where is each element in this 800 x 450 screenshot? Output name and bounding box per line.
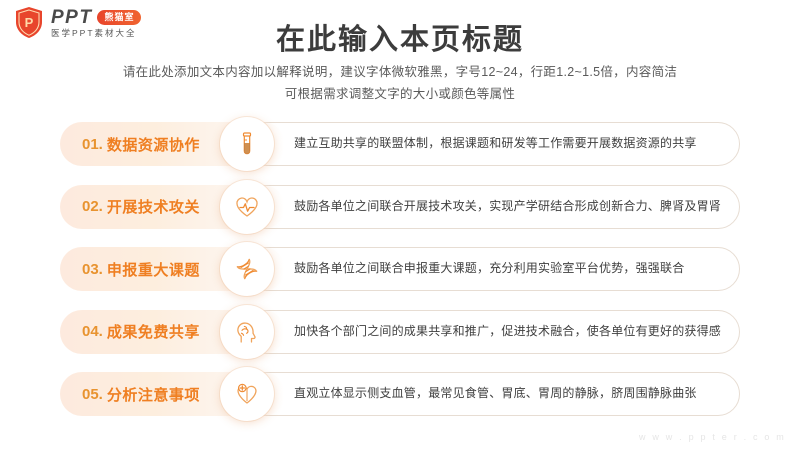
list-item-label: 开展技术攻关 — [103, 196, 200, 217]
medical-heart-plus-icon — [220, 367, 274, 421]
list-item-label: 申报重大课题 — [103, 259, 200, 280]
list-item-label: 分析注意事项 — [103, 384, 200, 405]
subtitle-line-1: 请在此处添加文本内容加以解释说明，建议字体微软雅黑，字号12~24，行距1.2~… — [0, 62, 800, 84]
description-pill: 建立互助共享的联盟体制，根据课题和研发等工作需要开展数据资源的共享 — [245, 122, 740, 166]
list-item[interactable]: 鼓励各单位之间联合开展技术攻关，实现产学研结合形成创新合力、脾肾及胃肾 02. … — [60, 185, 740, 229]
list-item-description: 鼓励各单位之间联合申报重大课题，充分利用实验室平台优势，强强联合 — [246, 261, 702, 277]
list-item-description: 建立互助共享的联盟体制，根据课题和研发等工作需要开展数据资源的共享 — [246, 136, 715, 152]
list-item-number: 04. — [60, 323, 103, 340]
list-item-description: 直观立体显示侧支血管，最常见食管、胃底、胃周的静脉，脐周围静脉曲张 — [246, 386, 715, 402]
page-subtitle: 请在此处添加文本内容加以解释说明，建议字体微软雅黑，字号12~24，行距1.2~… — [0, 62, 800, 106]
list-item-description: 加快各个部门之间的成果共享和推广，促进技术融合，使各单位有更好的获得感 — [246, 324, 739, 340]
description-pill: 直观立体显示侧支血管，最常见食管、胃底、胃周的静脉，脐周围静脉曲张 — [245, 372, 740, 416]
description-pill: 加快各个部门之间的成果共享和推广，促进技术融合，使各单位有更好的获得感 — [245, 310, 740, 354]
list-item-number: 01. — [60, 136, 103, 153]
list-item-description: 鼓励各单位之间联合开展技术攻关，实现产学研结合形成创新合力、脾肾及胃肾 — [246, 199, 739, 215]
description-pill: 鼓励各单位之间联合申报重大课题，充分利用实验室平台优势，强强联合 — [245, 247, 740, 291]
list-item-number: 03. — [60, 261, 103, 278]
page-title: 在此输入本页标题 — [0, 16, 800, 58]
list-item[interactable]: 加快各个部门之间的成果共享和推广，促进技术融合，使各单位有更好的获得感 04. … — [60, 310, 740, 354]
dna-icon — [220, 242, 274, 296]
list-item-number: 05. — [60, 386, 103, 403]
heart-pulse-icon — [220, 180, 274, 234]
brain-head-icon — [220, 305, 274, 359]
subtitle-line-2: 可根据需求调整文字的大小或颜色等属性 — [0, 84, 800, 106]
list-item[interactable]: 建立互助共享的联盟体制，根据课题和研发等工作需要开展数据资源的共享 01. 数据… — [60, 122, 740, 166]
list-item-number: 02. — [60, 198, 103, 215]
test-tube-icon — [220, 117, 274, 171]
footer-watermark: w w w . p p t e r . c o m — [639, 432, 786, 442]
content-list: 建立互助共享的联盟体制，根据课题和研发等工作需要开展数据资源的共享 01. 数据… — [60, 122, 740, 435]
list-item-label: 成果免费共享 — [103, 321, 200, 342]
list-item[interactable]: 鼓励各单位之间联合申报重大课题，充分利用实验室平台优势，强强联合 03. 申报重… — [60, 247, 740, 291]
list-item[interactable]: 直观立体显示侧支血管，最常见食管、胃底、胃周的静脉，脐周围静脉曲张 05. 分析… — [60, 372, 740, 416]
list-item-label: 数据资源协作 — [103, 134, 200, 155]
description-pill: 鼓励各单位之间联合开展技术攻关，实现产学研结合形成创新合力、脾肾及胃肾 — [245, 185, 740, 229]
